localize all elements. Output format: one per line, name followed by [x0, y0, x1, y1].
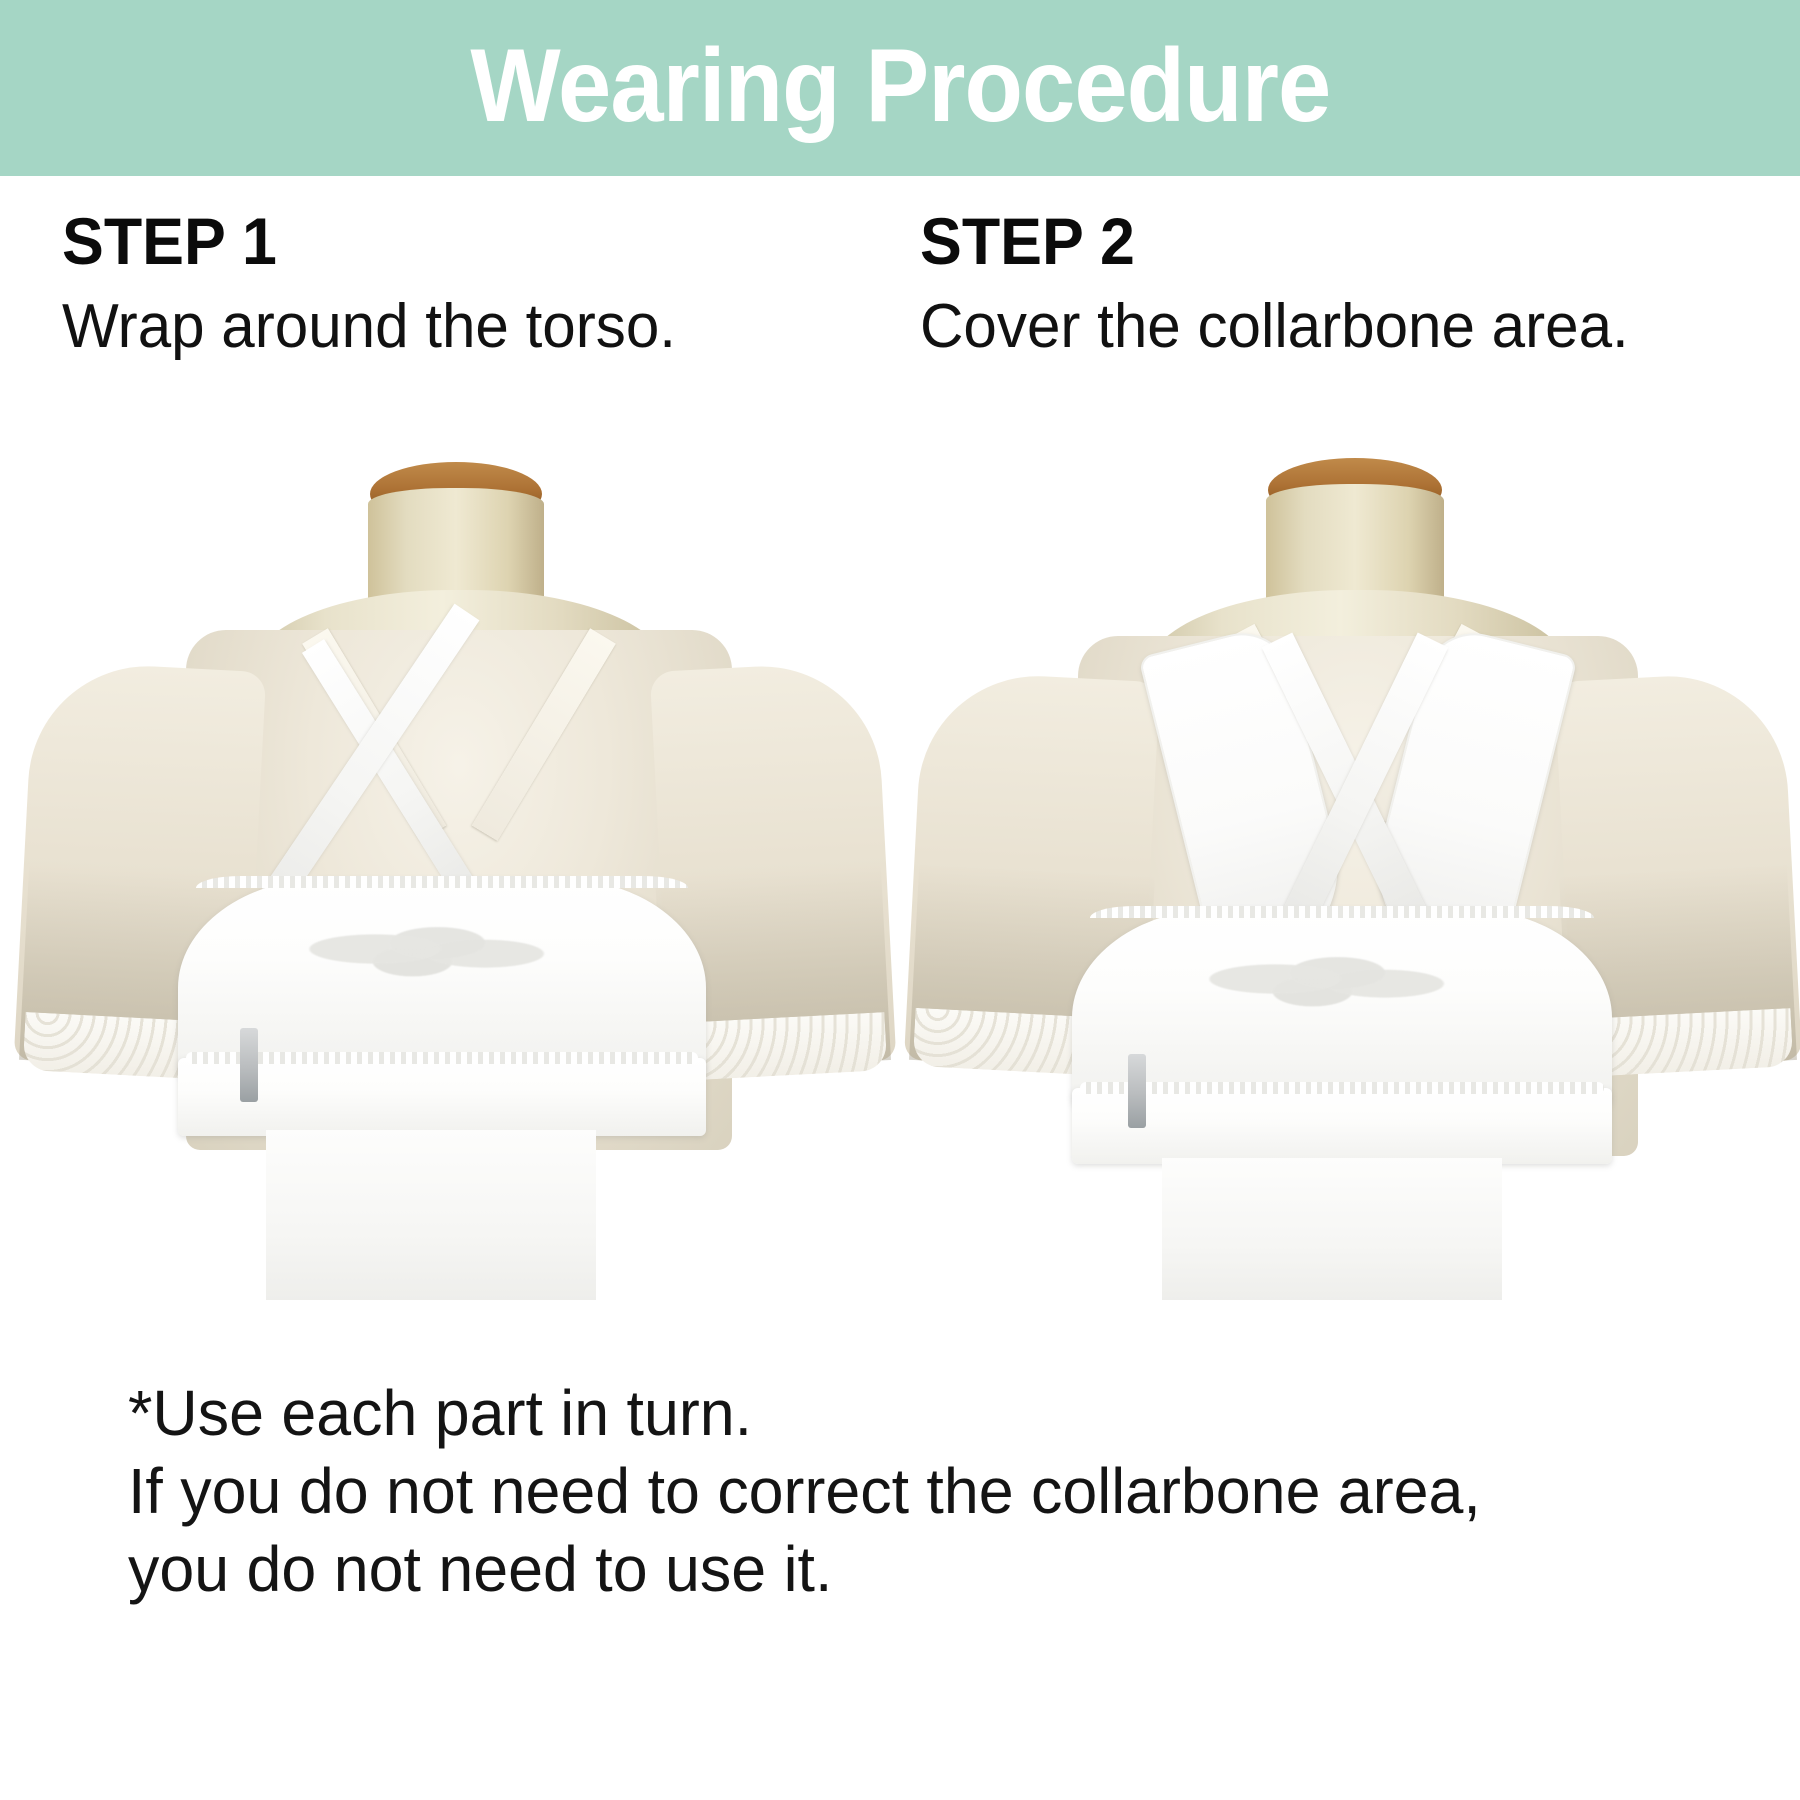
waist-band-trim	[186, 1052, 698, 1064]
note-block: *Use each part in turn. If you do not ne…	[128, 1374, 1788, 1608]
waist-band-trim	[1080, 1082, 1604, 1094]
waist-band	[1072, 1088, 1612, 1164]
band-clip-icon	[1128, 1054, 1146, 1128]
photos-row	[0, 440, 1800, 1300]
under-skirt	[266, 1130, 596, 1300]
bust-band-top-trim	[196, 876, 688, 888]
steps-row: STEP 1 Wrap around the torso. STEP 2 Cov…	[0, 176, 1800, 386]
step-2-photo	[900, 440, 1800, 1300]
step-2-scene	[900, 440, 1800, 1300]
step-2-block: STEP 2 Cover the collarbone area.	[900, 176, 1800, 386]
step-1-scene	[0, 440, 900, 1300]
bust-band-lace-motif	[1200, 940, 1450, 1018]
step-1-description: Wrap around the torso.	[62, 296, 875, 358]
band-clip-icon	[240, 1028, 258, 1102]
step-2-label: STEP 2	[920, 208, 1756, 274]
header-band: Wearing Procedure	[0, 0, 1800, 176]
bust-band-lace-motif	[300, 910, 550, 988]
page-title: Wearing Procedure	[470, 34, 1330, 138]
step-1-photo	[0, 440, 900, 1300]
step-1-label: STEP 1	[62, 208, 858, 274]
step-1-block: STEP 1 Wrap around the torso.	[0, 176, 900, 386]
note-line-1: *Use each part in turn.	[128, 1374, 1755, 1452]
bust-band-top-trim	[1090, 906, 1594, 918]
note-line-3: you do not need to use it.	[128, 1530, 1755, 1608]
under-skirt	[1162, 1158, 1502, 1300]
step-2-description: Cover the collarbone area.	[920, 296, 1774, 358]
note-line-2: If you do not need to correct the collar…	[128, 1452, 1755, 1530]
